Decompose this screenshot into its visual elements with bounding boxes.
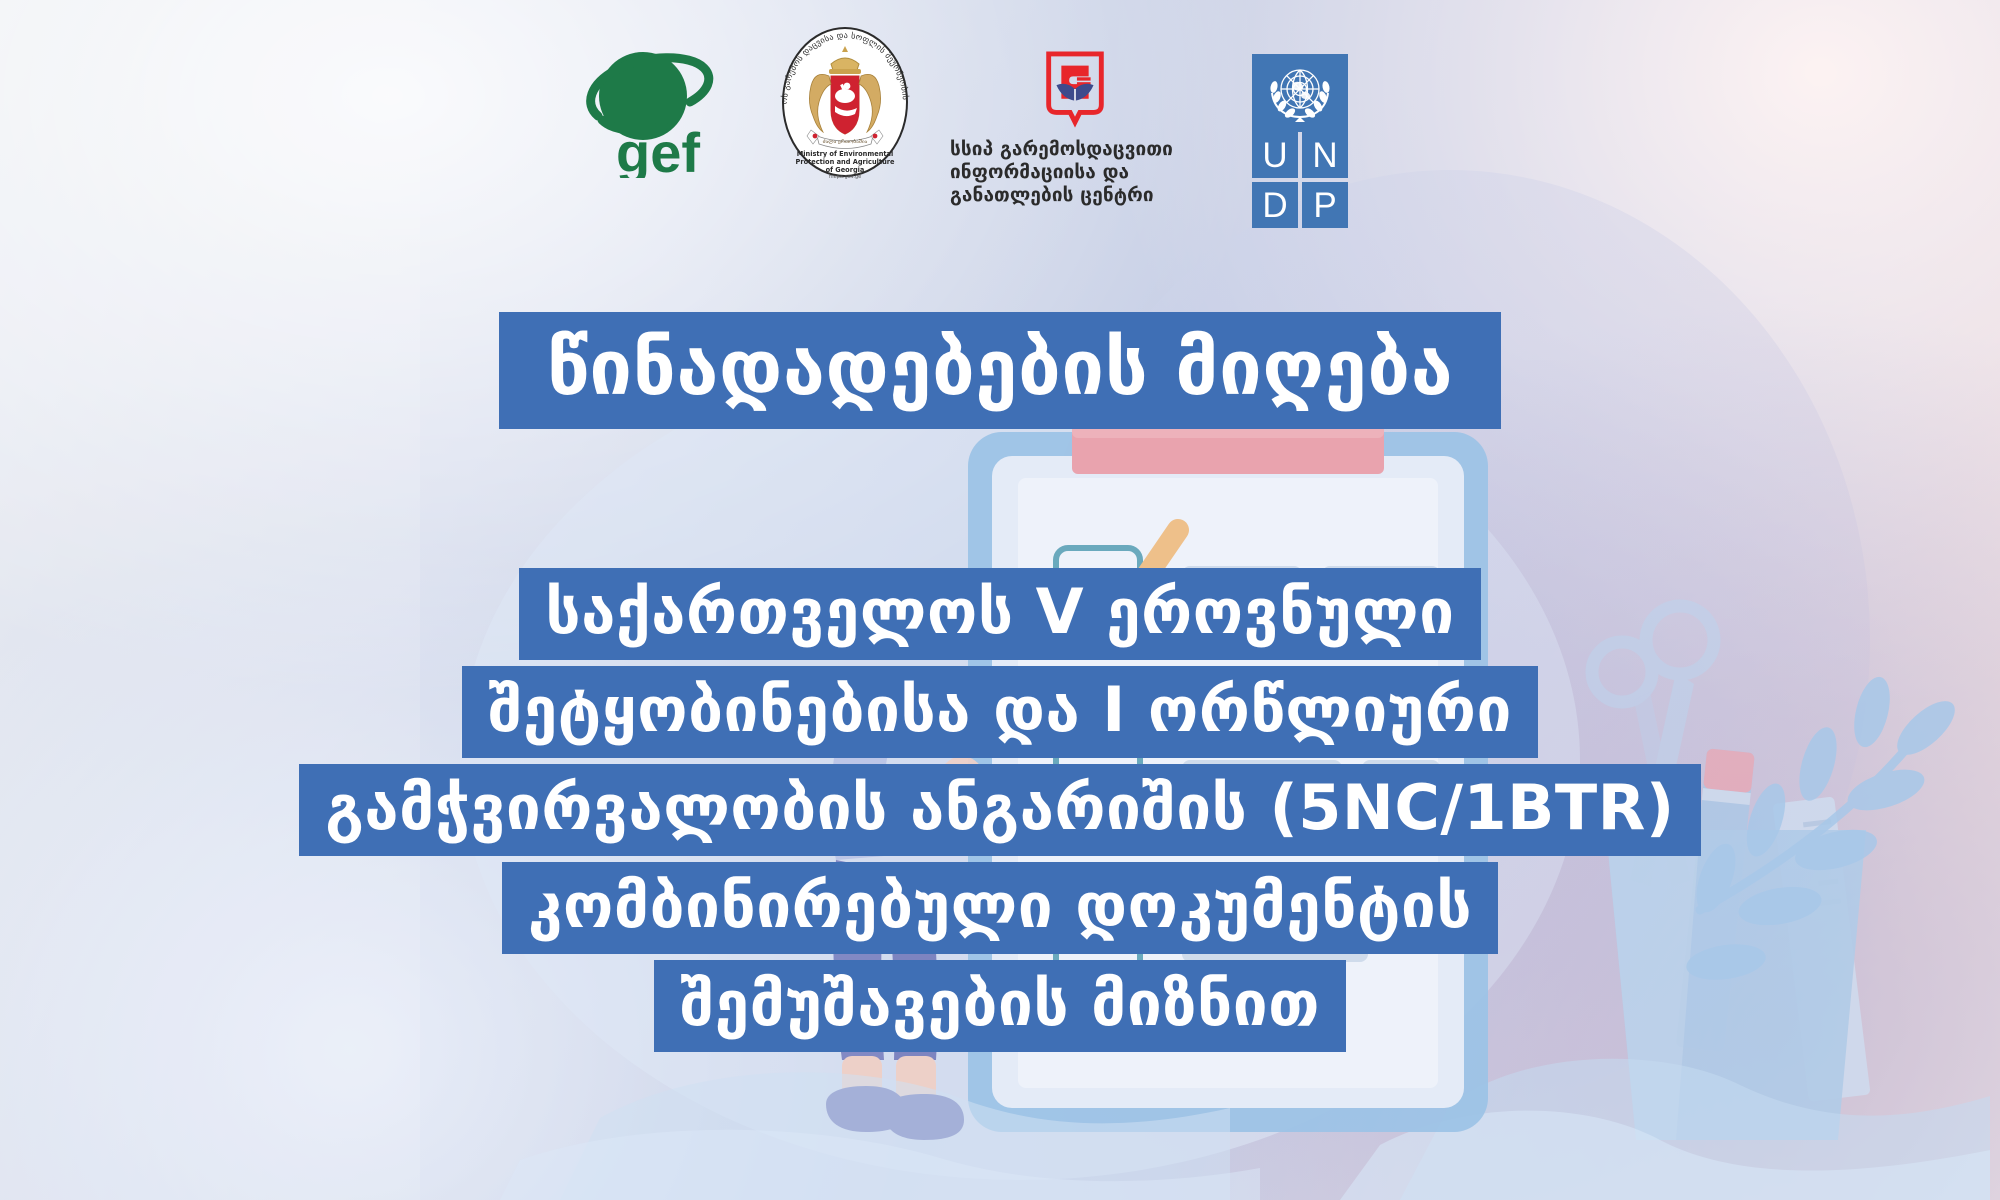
subheadline-line-4: კომბინირებული დოკუმენტის [502, 862, 1498, 954]
subheadline-line-3: გამჭვირვალობის ანგარიშის (5NC/1BTR) [299, 764, 1701, 856]
mepa-caption-line2: Protection and Agriculture [795, 158, 895, 166]
subheadline-line-2: შეტყობინებისა და I ორწლიური [462, 666, 1538, 758]
eiec-shield-icon [1044, 50, 1106, 128]
subheadline-line-1: საქართველოს V ეროვნული [519, 568, 1480, 660]
svg-text:ძალა ერთობაშია: ძალა ერთობაშია [823, 138, 868, 145]
mepa-caption-line1: Ministry of Environmental [797, 150, 894, 158]
undp-letter-n: N [1302, 132, 1348, 178]
subheadline-area: საქართველოს V ეროვნული შეტყობინებისა და … [0, 568, 2000, 1052]
eiec-text-line-2: ინფორმაციისა და [950, 161, 1210, 184]
gef-logo: gef [560, 20, 750, 178]
mepa-caption-line3: of Georgia [826, 166, 865, 174]
undp-letter-grid: U N D P [1252, 132, 1348, 232]
mepa-logo: საქართველოს გარემოს დაცვისა და სოფლის მე… [750, 20, 940, 180]
eiec-logo-text: სსიპ გარემოსდაცვითი ინფორმაციისა და განა… [940, 138, 1210, 208]
logo-row: gef საქართველოს გარემოს დაცვისა და სოფლი… [560, 20, 1450, 180]
undp-logo: U N D P [1210, 20, 1390, 232]
poster-headline: წინადადებების მიღება [499, 312, 1502, 429]
headline-area: წინადადებების მიღება [0, 312, 2000, 429]
undp-letter-d: D [1252, 182, 1298, 228]
gef-wordmark: gef [616, 121, 700, 178]
environmental-information-and-education-centre-logo: სსიპ გარემოსდაცვითი ინფორმაციისა და განა… [940, 20, 1210, 208]
undp-letter-u: U [1252, 132, 1298, 178]
mepa-caption-line4: mepa.gov.ge [829, 174, 861, 180]
poster-canvas: gef საქართველოს გარემოს დაცვისა და სოფლი… [0, 0, 2000, 1200]
united-nations-emblem-icon [1252, 54, 1348, 132]
eiec-text-line-3: განათლების ცენტრი [950, 184, 1210, 207]
undp-letter-p: P [1302, 182, 1348, 228]
eiec-text-line-1: სსიპ გარემოსდაცვითი [950, 138, 1210, 161]
subheadline-line-5: შემუშავების მიზნით [654, 960, 1346, 1052]
